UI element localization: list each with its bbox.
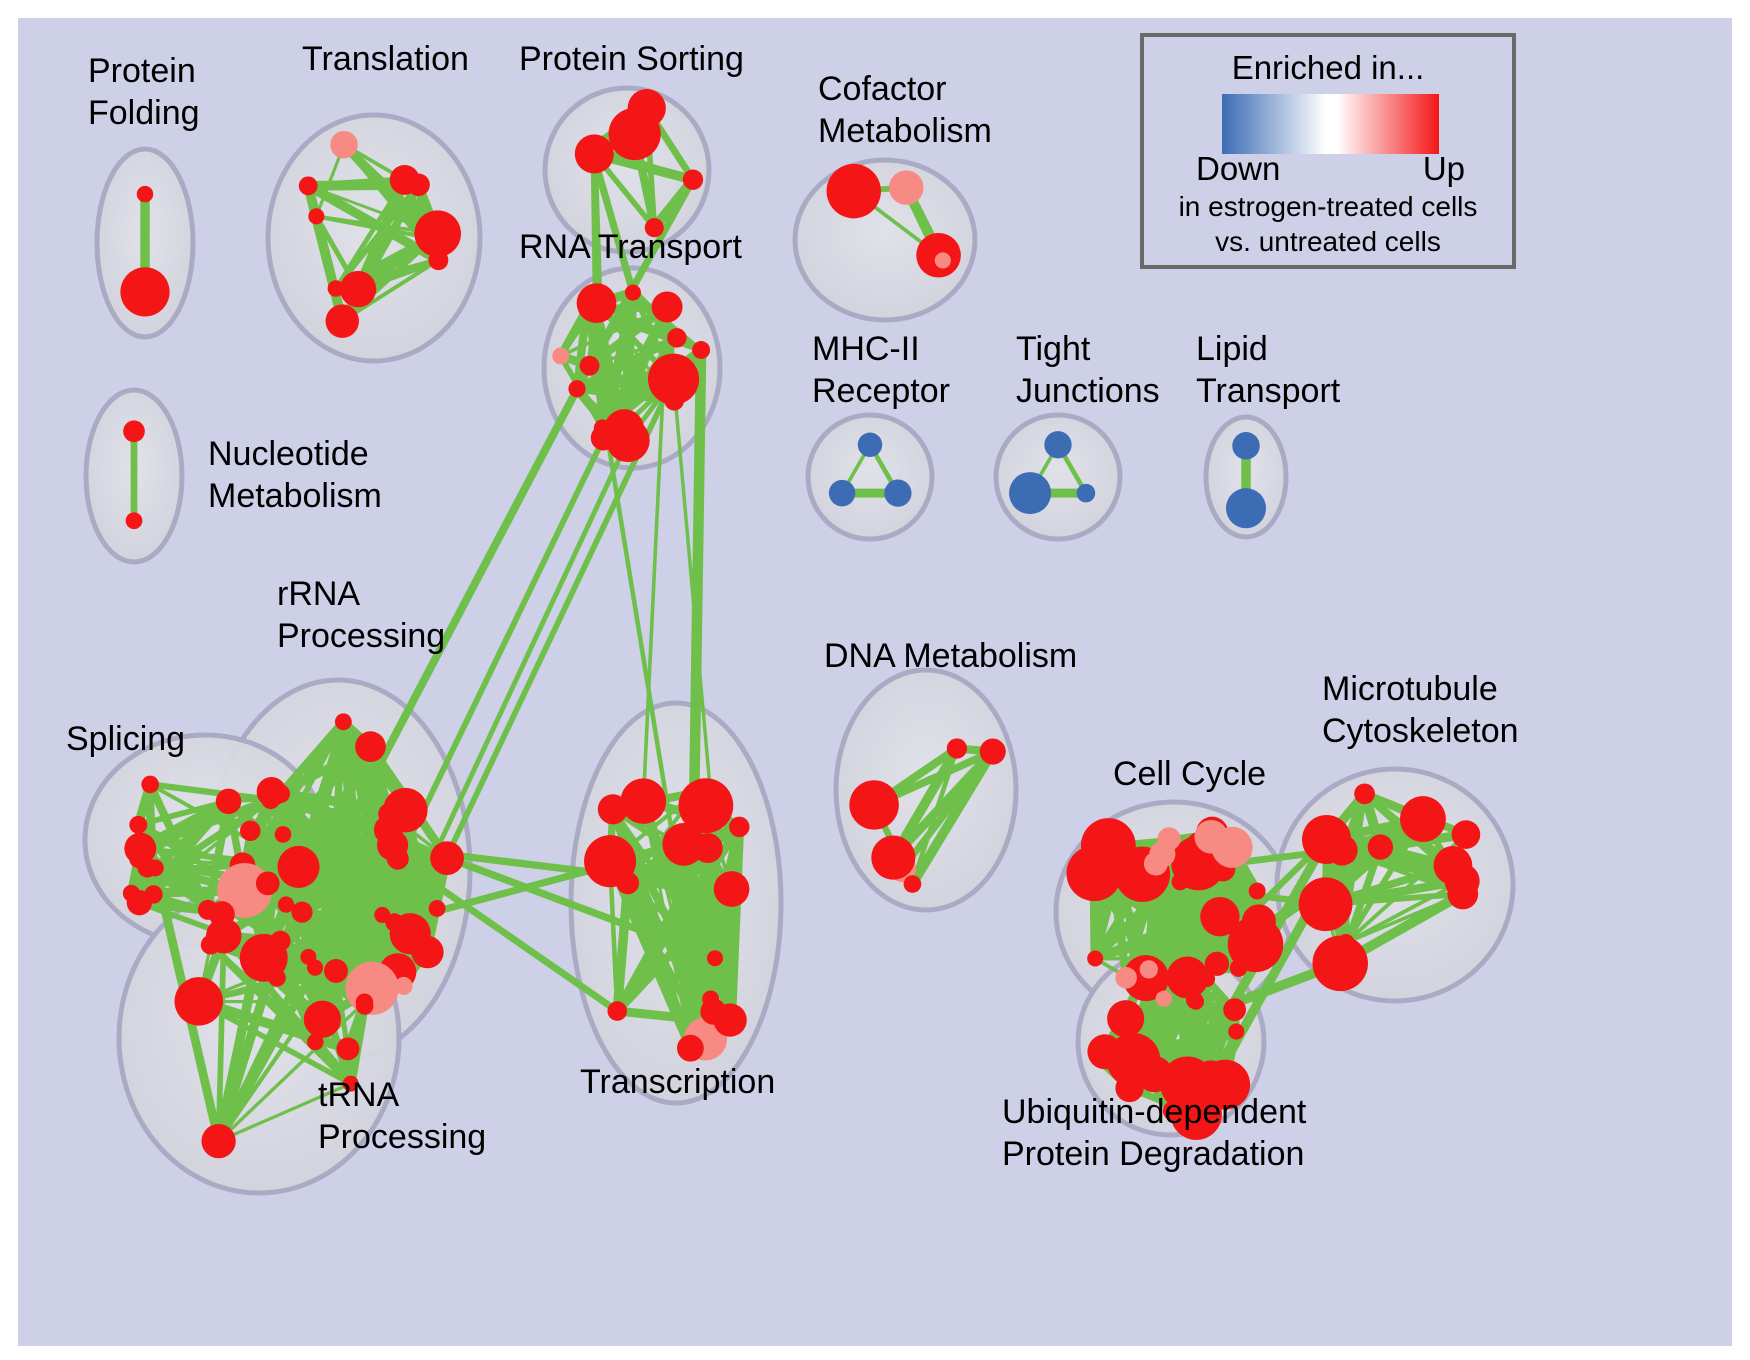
network-node[interactable] <box>606 419 650 463</box>
network-canvas: ProteinFoldingTranslationProtein Sorting… <box>0 0 1750 1360</box>
network-node[interactable] <box>1242 904 1276 938</box>
network-node[interactable] <box>1044 431 1071 458</box>
network-node[interactable] <box>330 131 358 159</box>
legend-caption-line2: vs. untreated cells <box>1215 226 1441 257</box>
network-node[interactable] <box>884 480 911 507</box>
network-node[interactable] <box>137 186 153 202</box>
legend-caption-line1: in estrogen-treated cells <box>1179 191 1478 222</box>
network-node[interactable] <box>429 900 446 917</box>
network-node[interactable] <box>124 833 156 865</box>
network-node[interactable] <box>129 816 147 834</box>
network-node[interactable] <box>652 291 683 322</box>
cluster-label-translation: Translation <box>302 40 469 78</box>
network-node[interactable] <box>390 913 431 954</box>
network-node[interactable] <box>827 164 881 218</box>
network-node[interactable] <box>1312 936 1368 992</box>
network-node[interactable] <box>714 871 750 907</box>
legend-title: Enriched in... <box>1232 49 1425 86</box>
network-node[interactable] <box>578 301 594 317</box>
network-node[interactable] <box>1249 883 1266 900</box>
network-node[interactable] <box>552 348 569 365</box>
network-node[interactable] <box>1140 960 1158 978</box>
network-node[interactable] <box>621 778 666 823</box>
network-node[interactable] <box>1327 835 1358 866</box>
network-node[interactable] <box>144 885 162 903</box>
network-node[interactable] <box>1156 991 1172 1007</box>
legend: Enriched in... Down Up in estrogen-treat… <box>1142 35 1514 267</box>
network-node[interactable] <box>256 872 280 896</box>
network-node[interactable] <box>829 480 855 506</box>
cluster-label-splicing: Splicing <box>66 720 185 758</box>
network-node[interactable] <box>1077 484 1096 503</box>
network-node[interactable] <box>1299 877 1353 931</box>
network-node[interactable] <box>340 271 376 307</box>
network-node[interactable] <box>729 817 749 837</box>
network-node[interactable] <box>216 789 242 815</box>
network-node[interactable] <box>355 731 386 762</box>
network-node[interactable] <box>686 782 707 803</box>
network-node[interactable] <box>1354 783 1375 804</box>
network-node[interactable] <box>1228 1024 1244 1040</box>
cluster-label-rna-transport: RNA Transport <box>519 228 743 266</box>
network-node[interactable] <box>1107 1000 1144 1037</box>
network-node[interactable] <box>607 1001 627 1021</box>
network-node[interactable] <box>326 304 359 337</box>
network-node[interactable] <box>692 341 710 359</box>
network-node[interactable] <box>904 875 922 893</box>
enrichment-network-figure: ProteinFoldingTranslationProtein Sorting… <box>0 0 1750 1360</box>
network-node[interactable] <box>677 1035 704 1062</box>
network-node[interactable] <box>299 176 318 195</box>
network-node[interactable] <box>625 285 641 301</box>
network-node[interactable] <box>707 950 723 966</box>
network-node[interactable] <box>935 252 951 268</box>
network-node[interactable] <box>1166 957 1208 999</box>
network-node[interactable] <box>568 380 585 397</box>
network-node[interactable] <box>304 1001 341 1038</box>
network-node[interactable] <box>1091 1051 1107 1067</box>
network-node[interactable] <box>308 208 324 224</box>
network-node[interactable] <box>175 977 223 1025</box>
network-node[interactable] <box>336 1037 359 1060</box>
network-node[interactable] <box>662 823 705 866</box>
network-node[interactable] <box>580 356 600 376</box>
network-node[interactable] <box>414 210 461 257</box>
network-node[interactable] <box>395 977 413 995</box>
network-node[interactable] <box>201 1124 235 1158</box>
network-node[interactable] <box>120 267 169 316</box>
network-node[interactable] <box>1452 820 1481 849</box>
network-node[interactable] <box>374 815 403 844</box>
network-node[interactable] <box>240 820 261 841</box>
network-node[interactable] <box>849 780 898 829</box>
network-node[interactable] <box>291 902 312 923</box>
network-node[interactable] <box>889 170 924 205</box>
cluster-label-dna-metabolism: DNA Metabolism <box>824 637 1077 675</box>
network-node[interactable] <box>307 1034 324 1051</box>
network-node[interactable] <box>616 872 639 895</box>
network-node[interactable] <box>1009 472 1051 514</box>
network-node[interactable] <box>1232 432 1260 460</box>
network-node[interactable] <box>980 738 1006 764</box>
network-node[interactable] <box>141 776 159 794</box>
network-node[interactable] <box>947 738 967 758</box>
network-node[interactable] <box>275 826 292 843</box>
network-node[interactable] <box>261 790 280 809</box>
network-node[interactable] <box>335 713 352 730</box>
network-node[interactable] <box>123 885 140 902</box>
network-node[interactable] <box>430 841 464 875</box>
network-node[interactable] <box>683 169 703 189</box>
cluster-label-protein-sorting: Protein Sorting <box>519 40 744 78</box>
network-node[interactable] <box>1186 992 1203 1009</box>
cluster-label-cell-cycle: Cell Cycle <box>1113 755 1266 793</box>
network-node[interactable] <box>1081 818 1136 873</box>
network-node[interactable] <box>665 391 684 410</box>
network-node[interactable] <box>307 959 323 975</box>
network-node[interactable] <box>718 1010 744 1036</box>
legend-low-label: Down <box>1196 150 1280 187</box>
network-node[interactable] <box>1226 488 1266 528</box>
network-node[interactable] <box>1157 827 1180 850</box>
network-node[interactable] <box>1400 796 1446 842</box>
network-node[interactable] <box>126 512 143 529</box>
network-node[interactable] <box>328 280 344 296</box>
network-node[interactable] <box>1211 827 1252 868</box>
network-node[interactable] <box>1144 852 1168 876</box>
network-node[interactable] <box>1447 879 1478 910</box>
network-node[interactable] <box>356 993 373 1010</box>
network-node[interactable] <box>667 328 687 348</box>
legend-high-label: Up <box>1423 150 1465 187</box>
network-node[interactable] <box>1115 967 1137 989</box>
cluster-label-transcription: Transcription <box>580 1063 775 1101</box>
network-node[interactable] <box>871 836 915 880</box>
network-node[interactable] <box>206 918 242 954</box>
network-node[interactable] <box>1368 834 1393 859</box>
legend-colorbar <box>1222 94 1439 154</box>
network-node[interactable] <box>608 108 660 160</box>
network-node[interactable] <box>583 138 599 154</box>
network-node[interactable] <box>277 846 319 888</box>
network-node[interactable] <box>123 420 145 442</box>
network-node[interactable] <box>270 931 290 951</box>
network-node[interactable] <box>1223 998 1246 1021</box>
network-node[interactable] <box>1087 950 1103 966</box>
network-node[interactable] <box>390 165 420 195</box>
network-node[interactable] <box>858 433 882 457</box>
network-node[interactable] <box>324 959 348 983</box>
